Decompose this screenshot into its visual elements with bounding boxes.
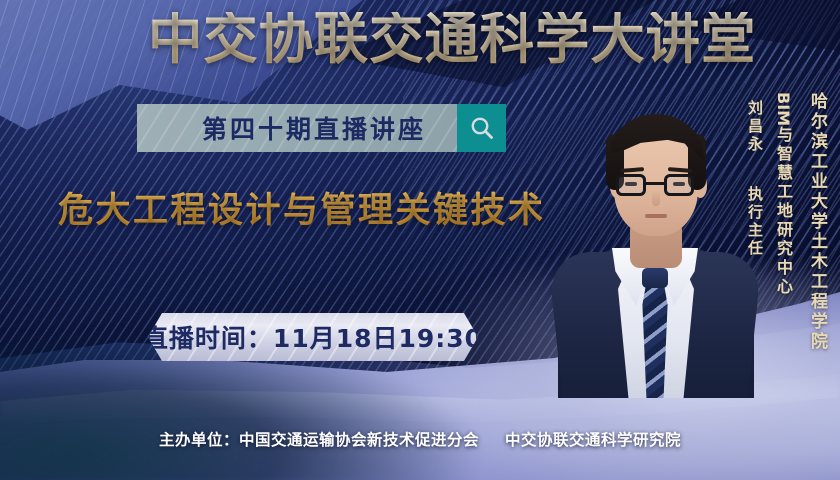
nose [652,190,660,206]
footer-bar: 主办单位：中国交通运输协会新技术促进分会 中交协联交通科学研究院 [0,424,840,454]
speaker-portrait [552,78,758,398]
speaker-name: 刘昌永 [745,100,766,154]
livestream-poster: 中交协联交通科学大讲堂 第四十期直播讲座 危大工程设计与管理关键技术 直播时间：… [0,0,840,480]
footer-institute: 中交协联交通科学研究院 [505,428,681,450]
footer-organizer: 主办单位：中国交通运输协会新技术促进分会 [159,428,479,450]
necktie-knot [642,268,668,288]
eyeglasses-lens-right [664,174,694,196]
episode-label: 第四十期直播讲座 [137,110,497,146]
mouth [645,214,667,218]
broadcast-time-label: 直播时间：11月18日19:30 [148,319,478,355]
research-center-name: 与智慧工地研究中心 [774,126,793,297]
lecture-topic: 危大工程设计与管理关键技术 [58,190,546,232]
speaker-research-center: BIM与智慧工地研究中心 [771,92,798,297]
eyeglasses-lens-left [616,174,646,196]
page-title: 中交协联交通科学大讲堂 [148,12,756,68]
speaker-affiliation: 哈尔滨工业大学土木工程学院 [805,92,830,352]
broadcast-time-banner: 直播时间：11月18日19:30 [148,313,478,361]
episode-banner: 第四十期直播讲座 [137,104,497,152]
eyeglasses-bridge [646,182,664,185]
research-center-acronym: BIM [774,92,793,126]
speaker-role: 执行主任 [745,186,766,258]
